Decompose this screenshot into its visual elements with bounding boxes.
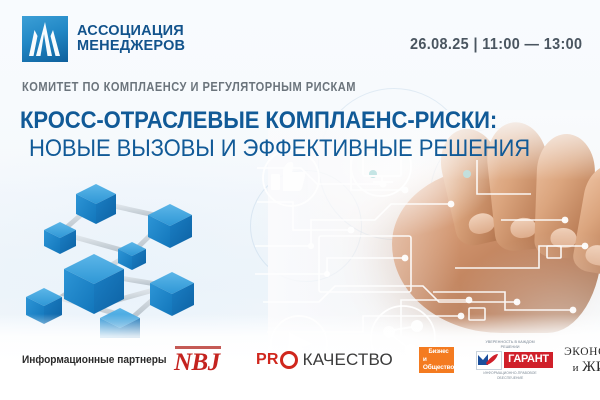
partner-logo-garant[interactable]: УВЕРЕННОСТЬ В КАЖДОМ РЕШЕНИИ ГАРАНТ ИНФО… xyxy=(476,340,544,381)
partners-label: Информационные партнеры xyxy=(22,354,162,366)
cube xyxy=(44,222,76,254)
ekzh-zhizn: ЖИЗНЬ xyxy=(582,359,600,375)
partner-logo-nbj[interactable]: NBJ xyxy=(174,346,226,375)
cube xyxy=(76,184,116,224)
nbj-wordmark: NBJ xyxy=(174,350,220,375)
thumbs-up-glyph xyxy=(271,162,305,191)
logo-line-1: АССОЦИАЦИЯ xyxy=(77,24,185,40)
kachestvo-text: КАЧЕСТВО xyxy=(303,350,393,370)
partner-logo-biznes-i-obshchestvo[interactable]: Бизнес и Общество xyxy=(419,347,454,373)
cube xyxy=(148,204,192,248)
ekzh-line-1: ЭКОНОМИКА xyxy=(564,345,600,360)
bizo-line-2: и Общество xyxy=(423,356,454,371)
ekzh-line-2: и ЖИЗНЬ xyxy=(564,360,600,376)
garant-tagline-bottom: ИНФОРМАЦИОННО-ПРАВОВОЕ ОБЕСПЕЧЕНИЕ xyxy=(476,371,544,381)
partner-logo-pro-kachestvo[interactable]: PR КАЧЕСТВО xyxy=(256,350,393,370)
garant-icon xyxy=(476,351,502,370)
garant-tagline-top: УВЕРЕННОСТЬ В КАЖДОМ РЕШЕНИИ xyxy=(476,340,544,350)
event-title-line-1: КРОСС-ОТРАСЛЕВЫЕ КОМПЛАЕНС-РИСКИ: xyxy=(20,107,530,135)
cube xyxy=(150,272,194,316)
logo-line-2: МЕНЕДЖЕРОВ xyxy=(77,39,185,55)
association-logo-text: АССОЦИАЦИЯ МЕНЕДЖЕРОВ xyxy=(77,24,185,55)
partner-logo-ekonomika-i-zhizn[interactable]: ЭКОНОМИКА и ЖИЗНЬ xyxy=(564,345,600,376)
pro-text: PR xyxy=(256,351,279,369)
nbj-tagline xyxy=(175,346,221,349)
partners-bar: Информационные партнеры NBJ PR КАЧЕСТВО … xyxy=(0,340,600,380)
committee-name: КОМИТЕТ ПО КОМПЛАЕНСУ И РЕГУЛЯТОРНЫМ РИС… xyxy=(22,80,356,94)
event-datetime: 26.08.25 | 11:00 — 13:00 xyxy=(410,36,582,54)
event-announcement-poster: АССОЦИАЦИЯ МЕНЕДЖЕРОВ 26.08.25 | 11:00 —… xyxy=(0,0,600,400)
association-logo[interactable]: АССОЦИАЦИЯ МЕНЕДЖЕРОВ xyxy=(22,16,185,62)
event-title-line-2: НОВЫЕ ВЫЗОВЫ И ЭФФЕКТИВНЫЕ РЕШЕНИЯ xyxy=(20,135,530,163)
ekzh-conjunction: и xyxy=(573,362,582,374)
pro-o-ring-icon xyxy=(280,351,298,369)
association-logo-mark xyxy=(22,16,68,62)
garant-wordmark: ГАРАНТ xyxy=(504,352,553,368)
pro-wordmark: PR xyxy=(256,351,298,369)
event-title: КРОСС-ОТРАСЛЕВЫЕ КОМПЛАЕНС-РИСКИ: НОВЫЕ … xyxy=(20,107,530,163)
bizo-line-1: Бизнес xyxy=(429,349,449,356)
